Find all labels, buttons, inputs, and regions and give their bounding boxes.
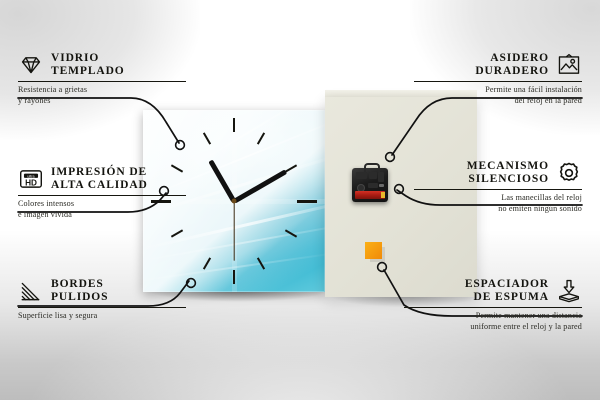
feature-title-line2: DURADERO xyxy=(475,65,549,78)
feature-bordes-pulidos: BORDES PULIDOS Superficie lisa y segura xyxy=(18,278,186,322)
feature-title-line2: SILENCIOSO xyxy=(468,173,549,186)
feature-title-line2: PULIDOS xyxy=(51,291,108,304)
feature-desc-line2: del reloj en la pared xyxy=(414,96,582,107)
feature-divider xyxy=(414,189,582,190)
ultra-hd-large-text: HD xyxy=(25,178,37,187)
feature-desc-line1: Resistencia a grietas xyxy=(18,85,186,96)
feature-divider xyxy=(18,307,186,308)
feature-head: BORDES PULIDOS xyxy=(18,278,186,304)
feature-asidero-duradero: ASIDERO DURADERO Permite una fácil insta… xyxy=(414,52,582,107)
ultra-hd-icon: ultra HD xyxy=(18,166,44,192)
feature-head: ASIDERO DURADERO xyxy=(414,52,582,78)
picture-frame-hanger-icon xyxy=(556,52,582,78)
feature-impresion-alta-calidad: ultra HD IMPRESIÓN DE ALTA CALIDAD Color… xyxy=(18,166,186,221)
feature-head: ESPACIADOR DE ESPUMA xyxy=(404,278,582,304)
feature-title-line1: ESPACIADOR xyxy=(465,278,549,291)
feature-desc-line2: no emiten ningún sonido xyxy=(414,204,582,215)
feature-titles: ESPACIADOR DE ESPUMA xyxy=(465,278,549,304)
feature-title-line1: BORDES xyxy=(51,278,104,291)
feature-title-line2: TEMPLADO xyxy=(51,65,125,78)
polished-edges-icon xyxy=(18,278,44,304)
feature-title-line1: MECANISMO xyxy=(467,160,549,173)
clock-center-pin xyxy=(232,199,237,204)
feature-espaciador-de-espuma: ESPACIADOR DE ESPUMA Permite mantener un… xyxy=(404,278,582,333)
feature-title-line1: VIDRIO xyxy=(51,52,99,65)
feature-divider xyxy=(414,81,582,82)
feature-titles: MECANISMO SILENCIOSO xyxy=(467,160,549,186)
feature-head: VIDRIO TEMPLADO xyxy=(18,52,186,78)
feature-title-line2: DE ESPUMA xyxy=(473,291,549,304)
feature-divider xyxy=(404,307,582,308)
diamond-icon xyxy=(18,52,44,78)
infographic-canvas: VIDRIO TEMPLADO Resistencia a grietas y … xyxy=(0,0,600,400)
feature-mecanismo-silencioso: MECANISMO SILENCIOSO Las manecillas del … xyxy=(414,160,582,215)
feature-title-line1: IMPRESIÓN DE xyxy=(51,166,147,179)
feature-titles: ASIDERO DURADERO xyxy=(475,52,549,78)
feature-vidrio-templado: VIDRIO TEMPLADO Resistencia a grietas y … xyxy=(18,52,186,107)
foam-spacer-icon xyxy=(556,278,582,304)
feature-desc-line2: uniforme entre el reloj y la pared xyxy=(404,322,582,333)
feature-desc-line2: e imagen vívida xyxy=(18,210,186,221)
feature-divider xyxy=(18,195,186,196)
feature-titles: BORDES PULIDOS xyxy=(51,278,108,304)
feature-head: ultra HD IMPRESIÓN DE ALTA CALIDAD xyxy=(18,166,186,192)
feature-desc-line1: Permite una fácil instalación xyxy=(414,85,582,96)
feature-title-line1: ASIDERO xyxy=(490,52,549,65)
feature-titles: VIDRIO TEMPLADO xyxy=(51,52,125,78)
gear-icon xyxy=(556,160,582,186)
feature-desc-line1: Permite mantener una distancia xyxy=(404,311,582,322)
feature-desc-line1: Las manecillas del reloj xyxy=(414,193,582,204)
feature-title-line2: ALTA CALIDAD xyxy=(51,179,148,192)
feature-desc-line1: Superficie lisa y segura xyxy=(18,311,186,322)
feature-head: MECANISMO SILENCIOSO xyxy=(414,160,582,186)
feature-titles: IMPRESIÓN DE ALTA CALIDAD xyxy=(51,166,148,192)
feature-desc-line1: Colores intensos xyxy=(18,199,186,210)
feature-divider xyxy=(18,81,186,82)
feature-desc-line2: y rayones xyxy=(18,96,186,107)
